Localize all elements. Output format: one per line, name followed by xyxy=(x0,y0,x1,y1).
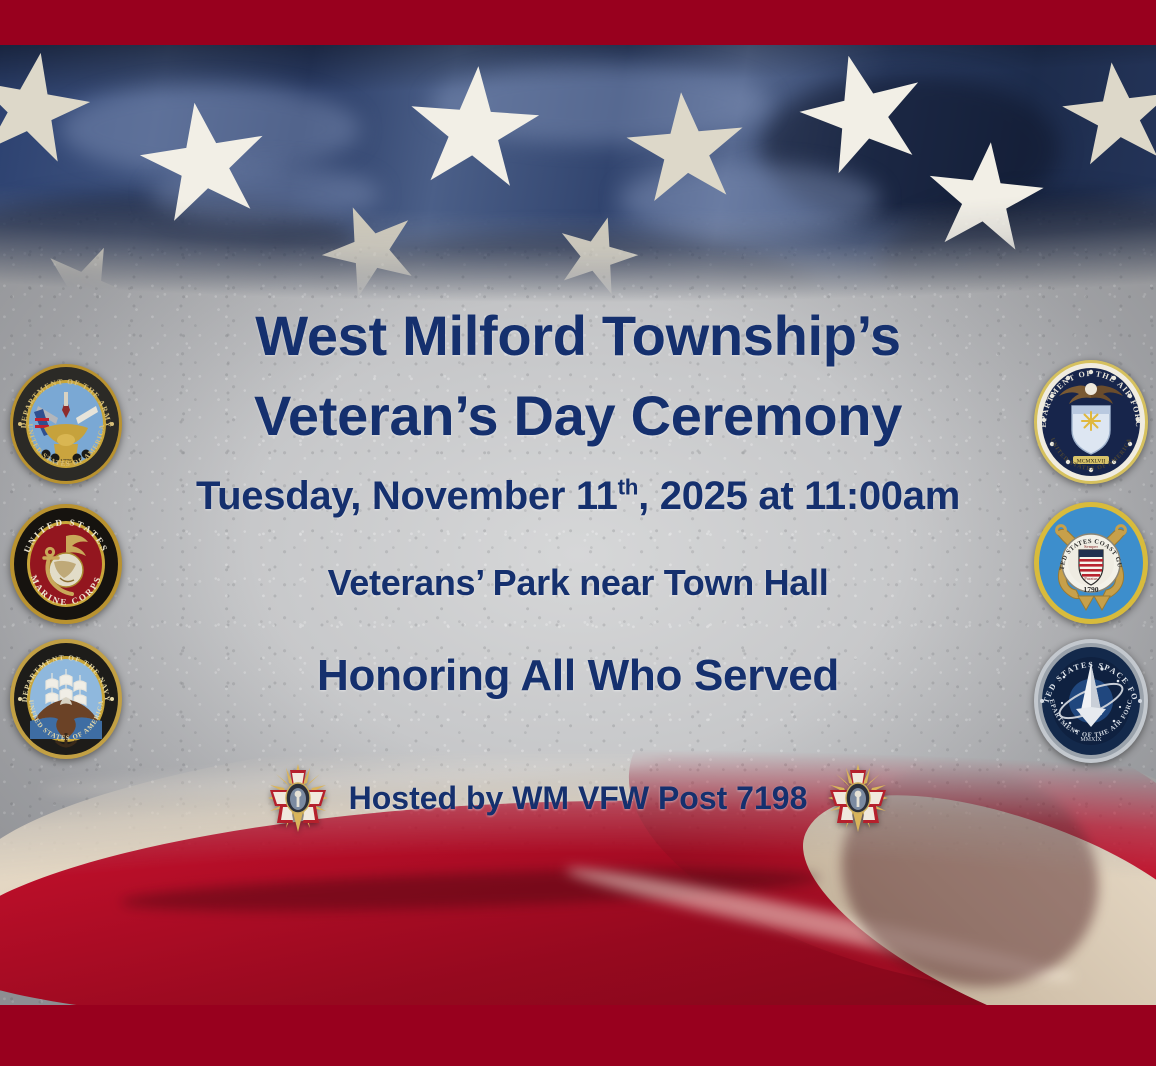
flag-star-field-drape xyxy=(0,44,1156,344)
flag-drape-shadow xyxy=(0,256,1156,344)
svg-text:Paratus: Paratus xyxy=(1084,576,1098,581)
svg-text:MMXIX: MMXIX xyxy=(1080,737,1102,743)
army-seal: 1775 DEPARTMENT OF THE ARMY UNITED STATE… xyxy=(8,362,124,486)
flag-fold-highlight xyxy=(620,164,880,234)
marine-corps-seal: UNITED STATES MARINE CORPS xyxy=(8,502,124,626)
top-border-band xyxy=(0,0,1156,45)
flag-stripes-drape xyxy=(0,705,1156,1005)
svg-text:1790: 1790 xyxy=(1083,585,1098,594)
veterans-day-flyer: 1775 DEPARTMENT OF THE ARMY UNITED STATE… xyxy=(0,0,1156,1066)
navy-seal: DEPARTMENT OF THE NAVY UNITED STATES OF … xyxy=(8,637,124,761)
bottom-border-band xyxy=(0,1005,1156,1066)
svg-text:Semper: Semper xyxy=(1084,544,1099,549)
svg-text:MCMXLVII: MCMXLVII xyxy=(1077,459,1106,465)
space-force-seal: UNITED STATES SPACE FORCE DEPARTMENT OF … xyxy=(1032,637,1150,765)
air-force-seal: MCMXLVII DEPARTMENT OF THE AIR FORCE UNI… xyxy=(1032,358,1150,486)
coast-guard-seal: UNITED STATES COAST GUARD 1790 Semper Pa… xyxy=(1032,500,1150,626)
